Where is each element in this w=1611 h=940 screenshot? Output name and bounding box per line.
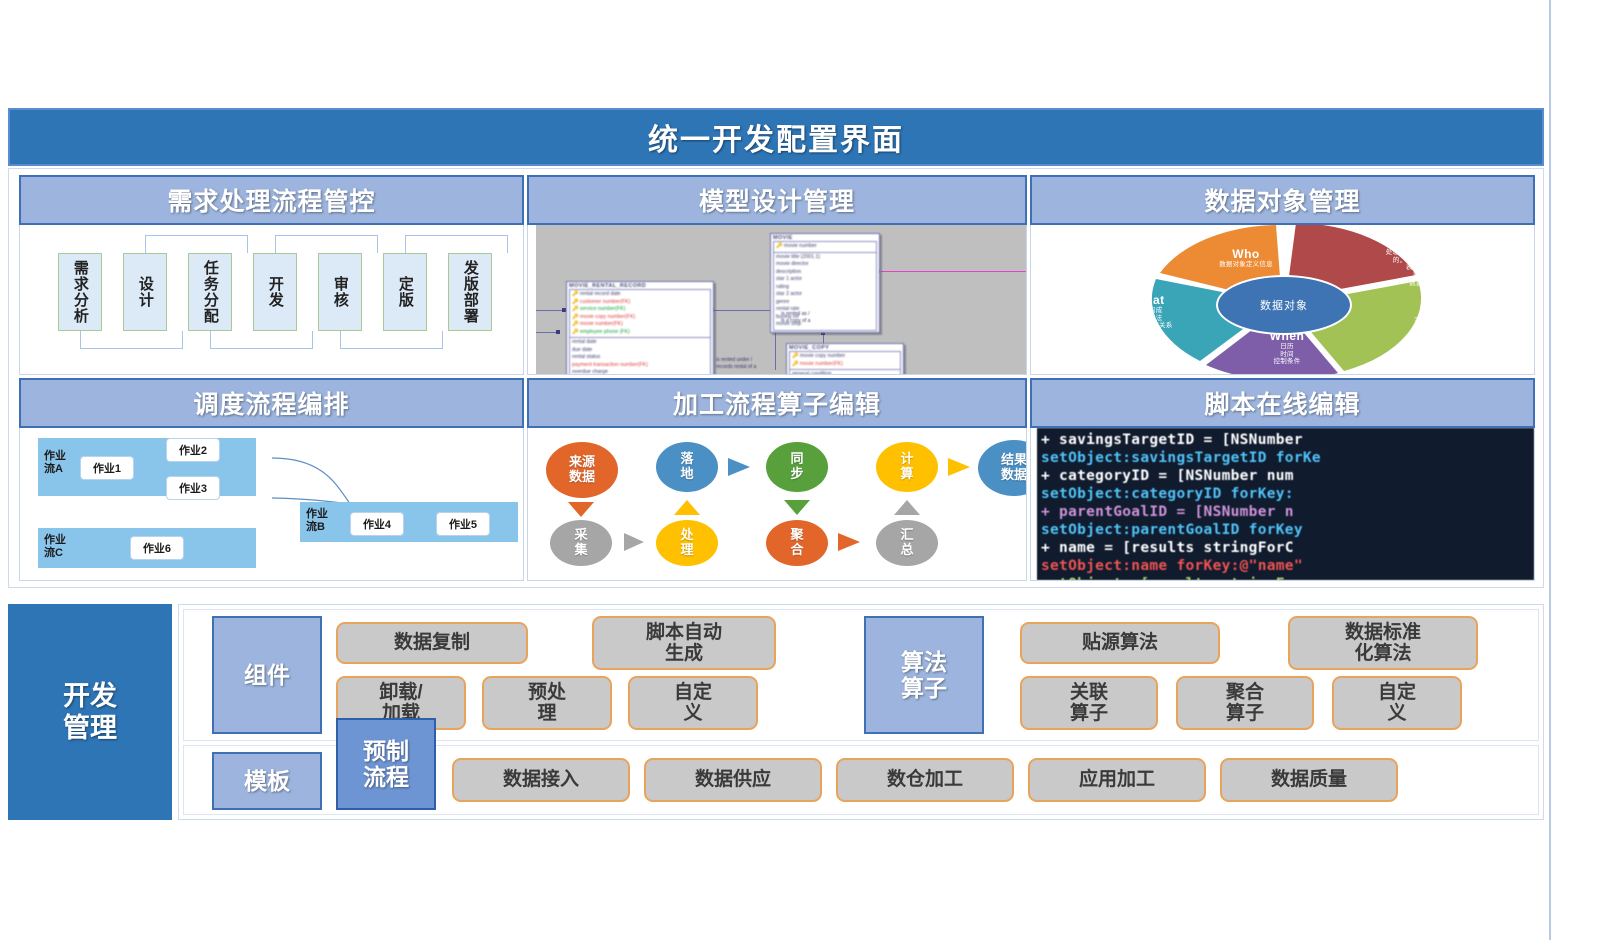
panel-schedule-body: 作业流A 作业1 作业2 作业3 作业流B 作业4 作业5 作业流C 作业6 bbox=[19, 428, 524, 581]
schedule-group-a-label: 作业流A bbox=[44, 450, 66, 475]
dev-category-prebuilt-flow[interactable]: 预制流程 bbox=[336, 718, 436, 810]
panel-model-body: MOVIE_RENTAL_RECORD 🔑 rental record date… bbox=[527, 225, 1027, 375]
schedule-group-c-label: 作业流C bbox=[44, 534, 66, 559]
operator-node-result[interactable]: 结果数据 bbox=[978, 440, 1027, 496]
flow-connector-3 bbox=[275, 235, 378, 253]
pie-label-where: Where 字段的物理落位， Mapping关系 bbox=[1376, 303, 1506, 332]
operator-node-collect[interactable]: 采集 bbox=[550, 520, 612, 566]
schedule-job-4[interactable]: 作业4 bbox=[350, 512, 404, 536]
right-edge-rule bbox=[1549, 0, 1551, 940]
panel-script-title: 脚本在线编辑 bbox=[1204, 385, 1360, 421]
panel-operator-body: 来源数据 采集 处理 落地 同步 聚合 汇总 计算 结果 bbox=[527, 428, 1027, 581]
development-management: 开发管理 组件 数据复制 脚本自动生成 卸载/加载 预处理 自定义 算法算子 贴… bbox=[8, 604, 1544, 820]
code-line-4: + parentGoalID = [NSNumber n bbox=[1041, 504, 1534, 522]
er-entity-movie-rental-record: MOVIE_RENTAL_RECORD 🔑 rental record date… bbox=[566, 281, 714, 375]
panel-script-body: + savingsTargetID = [NSNumber setObject:… bbox=[1030, 428, 1535, 581]
operator-node-process[interactable]: 处理 bbox=[656, 520, 718, 566]
operator-arrow-right-3 bbox=[838, 533, 860, 551]
panel-data-object-body: Who 数据对象定义信息 How 处理数据的逻辑是怎么实现 的，字段mappin… bbox=[1030, 225, 1535, 375]
operator-flowchart: 来源数据 采集 处理 落地 同步 聚合 汇总 计算 结果 bbox=[528, 428, 1026, 580]
panel-requirement[interactable]: 需求处理流程管控 需求分析 设计 任务分配 开发 审核 定版 发版部署 bbox=[19, 175, 524, 375]
flow-connector-1 bbox=[145, 235, 248, 253]
er-link-mid bbox=[714, 310, 776, 311]
operator-arrow-down-2 bbox=[784, 500, 810, 515]
operator-arrow-right-1 bbox=[624, 533, 644, 551]
schedule-job-1[interactable]: 作业1 bbox=[80, 456, 134, 480]
pie-label-how: How 处理数据的逻辑是怎么实现 的，字段mapping信息 表格生成规则 表格… bbox=[1351, 235, 1501, 287]
dev-category-component[interactable]: 组件 bbox=[212, 616, 322, 734]
dev-main-area: 组件 数据复制 脚本自动生成 卸载/加载 预处理 自定义 算法算子 贴源算法 数… bbox=[178, 604, 1544, 820]
schedule-flowchart: 作业流A 作业1 作业2 作业3 作业流B 作业4 作业5 作业流C 作业6 bbox=[20, 428, 523, 580]
flow-step-5[interactable]: 定版 bbox=[383, 253, 427, 331]
dev-category-algorithm[interactable]: 算法算子 bbox=[864, 616, 984, 734]
dev-pill-custom-operator[interactable]: 自定义 bbox=[1332, 676, 1462, 730]
panel-requirement-title: 需求处理流程管控 bbox=[167, 182, 375, 218]
dev-pill-source-algorithm[interactable]: 贴源算法 bbox=[1020, 622, 1220, 664]
code-editor[interactable]: + savingsTargetID = [NSNumber setObject:… bbox=[1037, 428, 1534, 580]
slide-canvas: 统一开发配置界面 需求处理流程管控 需求分析 设计 任务分配 开发 审核 定版 … bbox=[0, 0, 1611, 940]
dev-pill-data-supply[interactable]: 数据供应 bbox=[644, 758, 822, 802]
er-entity-movie-copy: MOVIE_COPY 🔑 movie copy number 🔑 movie n… bbox=[786, 343, 904, 375]
operator-arrow-up-2 bbox=[894, 500, 920, 515]
panel-data-object-header: 数据对象管理 bbox=[1030, 175, 1535, 225]
code-line-3: setObject:categoryID forKey: bbox=[1041, 486, 1534, 504]
er-link-pink bbox=[881, 271, 1027, 272]
operator-node-aggregate[interactable]: 聚合 bbox=[766, 520, 828, 566]
flow-step-4[interactable]: 审核 bbox=[318, 253, 362, 331]
schedule-group-a[interactable] bbox=[38, 438, 256, 496]
pie-label-what: What 数据构成 数据用法 数据对象的关系 加工流程 bbox=[1089, 293, 1209, 338]
dev-side-label-text: 开发管理 bbox=[63, 680, 117, 745]
er-caption-1: is rented under /records rental of a bbox=[716, 357, 756, 371]
dev-category-template[interactable]: 模板 bbox=[212, 752, 322, 810]
dev-pill-data-replication[interactable]: 数据复制 bbox=[336, 622, 528, 664]
operator-arrow-down-1 bbox=[568, 502, 594, 517]
panel-schedule[interactable]: 调度流程编排 作业流A 作业1 作业2 作业3 bbox=[19, 378, 524, 581]
flow-connector-4 bbox=[340, 331, 443, 349]
operator-node-summary[interactable]: 汇总 bbox=[876, 520, 938, 566]
dev-pill-preprocess[interactable]: 预处理 bbox=[482, 676, 612, 730]
operator-arrow-right-2 bbox=[728, 458, 750, 476]
panel-schedule-header: 调度流程编排 bbox=[19, 378, 524, 428]
operator-node-compute[interactable]: 计算 bbox=[876, 442, 938, 492]
dev-pill-data-quality[interactable]: 数据质量 bbox=[1220, 758, 1398, 802]
panel-script-header: 脚本在线编辑 bbox=[1030, 378, 1535, 428]
schedule-job-5[interactable]: 作业5 bbox=[436, 512, 490, 536]
panel-model-header: 模型设计管理 bbox=[527, 175, 1027, 225]
dev-pill-application-processing[interactable]: 应用加工 bbox=[1028, 758, 1206, 802]
flow-connector-2 bbox=[210, 331, 313, 349]
panel-script[interactable]: 脚本在线编辑 + savingsTargetID = [NSNumber set… bbox=[1030, 378, 1535, 581]
er-caption-0: is rented as /is a copy of a bbox=[781, 311, 810, 325]
panel-requirement-body: 需求分析 设计 任务分配 开发 审核 定版 发版部署 bbox=[19, 225, 524, 375]
flow-step-6[interactable]: 发版部署 bbox=[448, 253, 492, 331]
pie-label-who: Who 数据对象定义信息 bbox=[1181, 247, 1311, 269]
flow-step-2[interactable]: 任务分配 bbox=[188, 253, 232, 331]
flow-step-1[interactable]: 设计 bbox=[123, 253, 167, 331]
operator-node-source[interactable]: 来源数据 bbox=[546, 442, 618, 498]
operator-node-sync[interactable]: 同步 bbox=[766, 442, 828, 492]
panel-model-title: 模型设计管理 bbox=[699, 182, 855, 218]
panel-model-design[interactable]: 模型设计管理 bbox=[527, 175, 1027, 375]
flow-connector-5 bbox=[405, 235, 508, 253]
dev-pill-aggregate-operator[interactable]: 聚合算子 bbox=[1176, 676, 1314, 730]
flow-step-0[interactable]: 需求分析 bbox=[58, 253, 102, 331]
dev-pill-custom-component[interactable]: 自定义 bbox=[628, 676, 758, 730]
panel-schedule-title: 调度流程编排 bbox=[193, 385, 349, 421]
flow-step-3[interactable]: 开发 bbox=[253, 253, 297, 331]
requirement-flowchart: 需求分析 设计 任务分配 开发 审核 定版 发版部署 bbox=[20, 225, 523, 374]
operator-arrow-up-1 bbox=[674, 500, 700, 515]
code-line-5: setObject:parentGoalID forKey bbox=[1041, 522, 1534, 540]
er-diagram: MOVIE_RENTAL_RECORD 🔑 rental record date… bbox=[536, 225, 1026, 374]
panel-operator-title: 加工流程算子编辑 bbox=[673, 385, 881, 421]
panel-data-object-title: 数据对象管理 bbox=[1204, 182, 1360, 218]
page-title: 统一开发配置界面 bbox=[648, 115, 904, 159]
operator-node-land[interactable]: 落地 bbox=[656, 442, 718, 492]
code-line-0: + savingsTargetID = [NSNumber bbox=[1041, 432, 1534, 450]
schedule-group-b-label: 作业流B bbox=[306, 508, 328, 533]
schedule-job-2[interactable]: 作业2 bbox=[166, 438, 220, 462]
dev-pill-standardization-algorithm[interactable]: 数据标准化算法 bbox=[1288, 616, 1478, 670]
code-line-8: setObject: [results stringFor bbox=[1041, 576, 1534, 580]
operator-arrow-right-4 bbox=[948, 458, 970, 476]
code-line-2: + categoryID = [NSNumber num bbox=[1041, 468, 1534, 486]
code-line-6: + name = [results stringForC bbox=[1041, 540, 1534, 558]
dev-pill-script-autogen[interactable]: 脚本自动生成 bbox=[592, 616, 776, 670]
er-entity-0-rows: 🔑 rental record date 🔑 customer number(F… bbox=[569, 289, 711, 375]
code-line-7: setObject:name forKey:@"name" bbox=[1041, 558, 1534, 576]
dev-pill-warehouse-processing[interactable]: 数仓加工 bbox=[836, 758, 1014, 802]
dev-pill-data-ingest[interactable]: 数据接入 bbox=[452, 758, 630, 802]
schedule-job-6[interactable]: 作业6 bbox=[130, 536, 184, 560]
er-entity-2-rows: 🔑 movie copy number 🔑 movie number(FK) g… bbox=[789, 351, 901, 375]
five-w-pie-chart: Who 数据对象定义信息 How 处理数据的逻辑是怎么实现 的，字段mappin… bbox=[1031, 225, 1534, 374]
dev-row-templates: 模板 预制流程 数据接入 数据供应 数仓加工 应用加工 数据质量 bbox=[183, 745, 1539, 815]
flow-connector-0 bbox=[80, 331, 183, 349]
er-dot-left-2 bbox=[556, 330, 560, 334]
pie-center-hub: 数据对象 bbox=[1216, 275, 1352, 335]
code-line-1: setObject:savingsTargetID forKe bbox=[1041, 450, 1534, 468]
panel-data-object[interactable]: 数据对象管理 bbox=[1030, 175, 1535, 375]
dev-pill-join-operator[interactable]: 关联算子 bbox=[1020, 676, 1158, 730]
panel-requirement-header: 需求处理流程管控 bbox=[19, 175, 524, 225]
main-title-bar: 统一开发配置界面 bbox=[8, 108, 1544, 166]
schedule-job-3[interactable]: 作业3 bbox=[166, 476, 220, 500]
dev-side-label: 开发管理 bbox=[8, 604, 172, 820]
panel-grid: 需求处理流程管控 需求分析 设计 任务分配 开发 审核 定版 发版部署 bbox=[8, 168, 1544, 588]
panel-operator-header: 加工流程算子编辑 bbox=[527, 378, 1027, 428]
panel-operator[interactable]: 加工流程算子编辑 来源数据 采集 处理 落地 同步 聚合 汇总 bbox=[527, 378, 1027, 581]
